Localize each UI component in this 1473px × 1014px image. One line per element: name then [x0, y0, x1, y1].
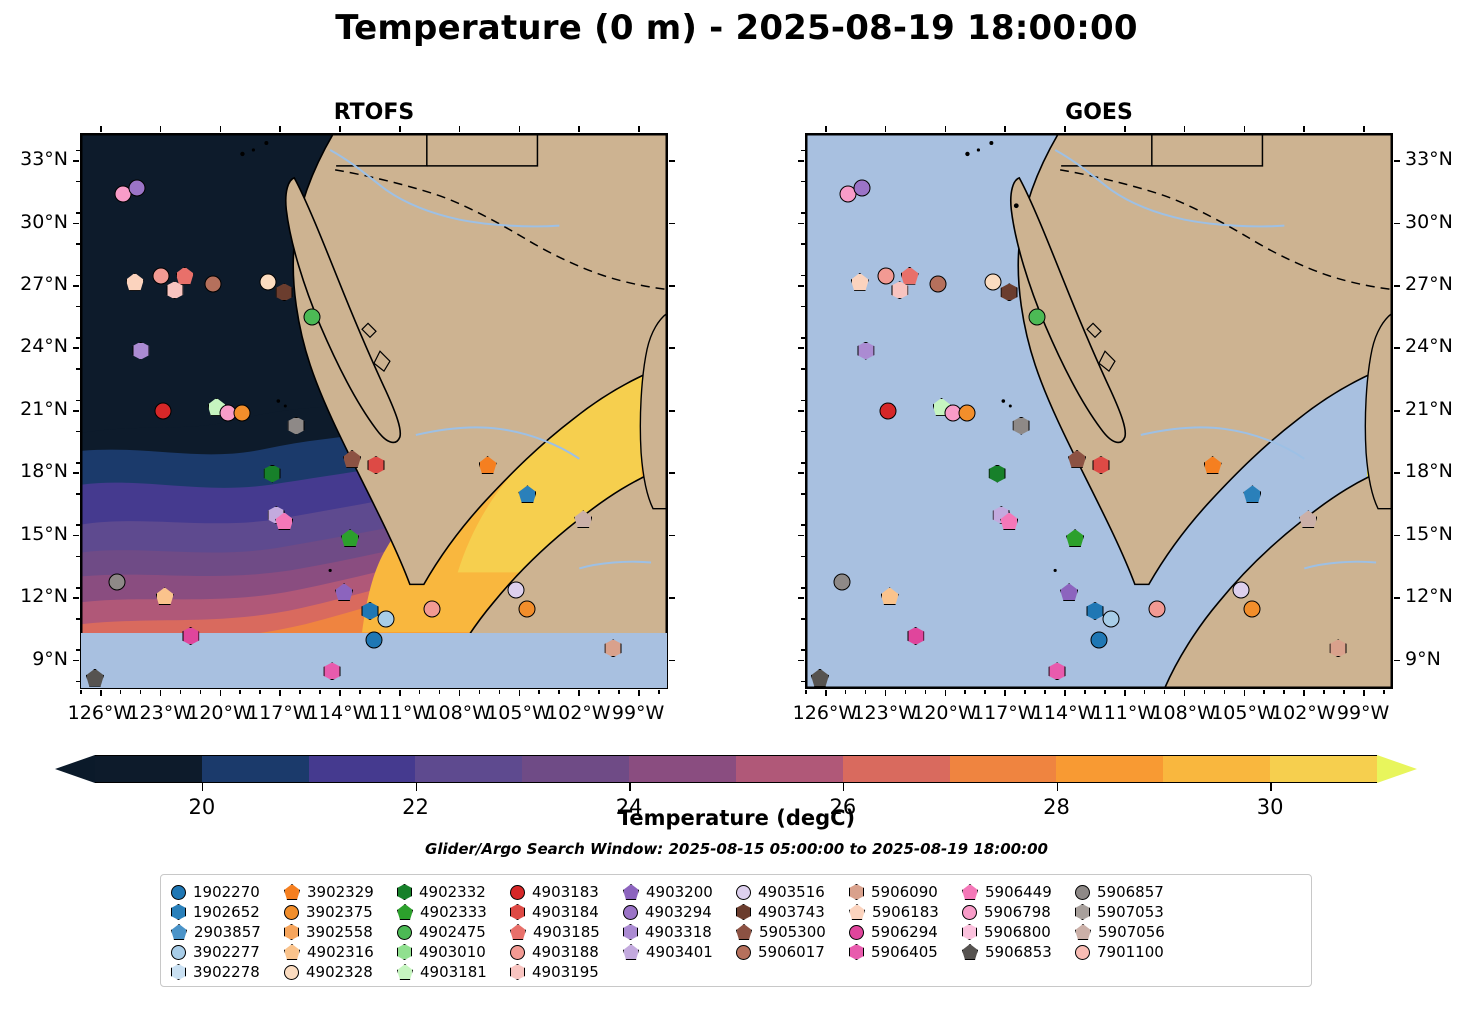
pent-marker-icon [881, 587, 899, 605]
xlabel-rtofs-9: 99°W [596, 702, 680, 724]
ytick-minor [801, 681, 805, 683]
hex-marker-icon [849, 944, 864, 960]
legend-item-5906405[interactable]: 5906405 [849, 942, 962, 962]
float-marker-5906405[interactable] [1049, 662, 1066, 684]
legend-item-4903184[interactable]: 4903184 [510, 902, 623, 922]
ytick-minor [801, 150, 805, 152]
legend-label: 4903743 [758, 903, 825, 921]
colorbar-tick-3 [843, 783, 845, 791]
float-marker-4903200[interactable] [1060, 583, 1078, 605]
map-panel-goes[interactable] [805, 133, 1393, 689]
ytick-minor [76, 618, 80, 620]
legend-grid: 1902270390232949023324903183490320049035… [171, 882, 1301, 982]
legend-item-4903185[interactable]: 4903185 [510, 922, 623, 942]
figure-canvas: Temperature (0 m) - 2025-08-19 18:00:00 … [0, 0, 1473, 1014]
float-marker-4903294[interactable] [853, 180, 870, 201]
legend-label: 5906017 [758, 943, 825, 961]
ytick-minor [801, 368, 805, 370]
pent-marker-icon [849, 904, 865, 920]
legend-item-empty [962, 962, 1075, 982]
legend-label: 5907053 [1097, 903, 1164, 921]
ytick-r-goes-2 [1394, 285, 1400, 287]
map-panel-rtofs[interactable] [80, 133, 668, 689]
legend-item-5906798[interactable]: 5906798 [962, 902, 1075, 922]
float-marker-3902375[interactable] [959, 405, 976, 426]
ylabel-goes-3: 24°N [1405, 335, 1453, 357]
float-marker-1902652[interactable] [518, 485, 536, 507]
float-marker-5906857b[interactable] [833, 573, 850, 594]
xtick-minor [1263, 690, 1265, 694]
float-id-legend[interactable]: 1902270390232949023324903183490320049035… [160, 874, 1312, 987]
legend-label: 4903200 [646, 883, 713, 901]
legend-item-5906449[interactable]: 5906449 [962, 882, 1075, 902]
ytick-r-goes-7 [1394, 597, 1400, 599]
circle-marker-icon [1029, 309, 1046, 326]
xtick-minor [339, 690, 341, 694]
xtick-minor [419, 690, 421, 694]
legend-item-5906017[interactable]: 5906017 [736, 942, 849, 962]
xtick-minor [359, 690, 361, 694]
ylabel-rtofs-7: 12°N [0, 585, 68, 607]
ytick-goes-8 [798, 660, 804, 662]
circle-marker-icon [154, 403, 171, 420]
ytick-minor [76, 556, 80, 558]
xtick-t-goes-4 [1064, 126, 1066, 132]
xtick-minor [459, 690, 461, 694]
float-marker-4903743[interactable] [1001, 283, 1018, 305]
float-marker-5906449[interactable] [275, 512, 293, 534]
float-marker-4903188b[interactable] [423, 600, 440, 621]
ytick-goes-3 [798, 347, 804, 349]
xtick-minor [1224, 690, 1226, 694]
ylabel-goes-5: 18°N [1405, 460, 1453, 482]
ytick-goes-4 [798, 410, 804, 412]
circle-marker-icon [510, 885, 525, 900]
legend-item-5907056[interactable]: 5907056 [1075, 922, 1188, 942]
legend-item-5905300[interactable]: 5905300 [736, 922, 849, 942]
hex-marker-icon [891, 281, 908, 299]
hex-marker-icon [324, 662, 341, 680]
legend-item-7901100[interactable]: 7901100 [1075, 942, 1188, 962]
ytick-minor [801, 337, 805, 339]
ytick-r-goes-1 [1394, 223, 1400, 225]
xtick-minor [1343, 690, 1345, 694]
float-marker-4902328[interactable] [985, 273, 1002, 294]
float-marker-4903200[interactable] [335, 583, 353, 605]
colorbar-segment-8 [950, 756, 1057, 782]
circle-marker-icon [519, 600, 536, 617]
float-marker-4903184[interactable] [367, 456, 384, 478]
float-marker-4902332[interactable] [264, 465, 281, 487]
ytick-rtofs-1 [73, 223, 79, 225]
legend-item-5906090[interactable]: 5906090 [849, 882, 962, 902]
float-marker-5905300[interactable] [343, 450, 361, 472]
hex-marker-icon [1075, 904, 1090, 920]
xtick-minor [964, 690, 966, 694]
float-marker-4902333[interactable] [341, 529, 359, 551]
colorbar-tick-1 [416, 783, 418, 791]
ytick-r-rtofs-0 [669, 160, 675, 162]
legend-item-4903181[interactable]: 4903181 [397, 962, 510, 982]
xtick-minor [1303, 690, 1305, 694]
ytick-minor [76, 400, 80, 402]
ylabel-goes-7: 12°N [1405, 585, 1453, 607]
float-marker-4903743[interactable] [276, 283, 293, 305]
legend-item-4902332[interactable]: 4902332 [397, 882, 510, 902]
ytick-minor [76, 462, 80, 464]
float-marker-5906294[interactable] [182, 627, 199, 649]
legend-label: 3902329 [307, 883, 374, 901]
xtick-minor [658, 690, 660, 694]
float-marker-4903318[interactable] [132, 342, 149, 364]
legend-item-3902375[interactable]: 3902375 [284, 902, 397, 922]
circle-marker-icon [1232, 582, 1249, 599]
circle-marker-icon [849, 925, 864, 940]
circle-marker-icon [284, 965, 299, 980]
legend-item-4902475[interactable]: 4902475 [397, 922, 510, 942]
legend-item-5906857[interactable]: 5906857 [1075, 882, 1188, 902]
legend-item-empty [1075, 962, 1188, 982]
legend-label: 4903010 [419, 943, 486, 961]
colorbar-segment-9 [1056, 756, 1163, 782]
float-marker-4902332[interactable] [989, 465, 1006, 487]
xtick-t-rtofs-5 [399, 126, 401, 132]
xtick-t-rtofs-9 [638, 126, 640, 132]
ylabel-goes-4: 21°N [1405, 398, 1453, 420]
legend-item-4903188[interactable]: 4903188 [510, 942, 623, 962]
float-marker-3902329[interactable] [1204, 456, 1222, 478]
legend-item-5907053[interactable]: 5907053 [1075, 902, 1188, 922]
xtick-minor [805, 690, 807, 694]
hex-marker-icon [510, 904, 525, 920]
legend-item-5906183[interactable]: 5906183 [849, 902, 962, 922]
ytick-r-rtofs-1 [669, 223, 675, 225]
xtick-minor [1004, 690, 1006, 694]
xtick-minor [259, 690, 261, 694]
colorbar[interactable]: 202224262830 [55, 755, 1417, 783]
circle-marker-icon [853, 180, 870, 197]
circle-marker-icon [128, 180, 145, 197]
ytick-goes-5 [798, 472, 804, 474]
float-marker-5906857[interactable] [1013, 417, 1030, 439]
legend-label: 7901100 [1097, 943, 1164, 961]
page-title: Temperature (0 m) - 2025-08-19 18:00:00 [0, 8, 1473, 48]
legend-item-4903195[interactable]: 4903195 [510, 962, 623, 982]
hex-marker-icon [171, 904, 186, 920]
colorbar-tick-0 [202, 783, 204, 791]
float-marker-3902329[interactable] [479, 456, 497, 478]
ylabel-goes-0: 33°N [1405, 148, 1453, 170]
legend-item-4903318[interactable]: 4903318 [623, 922, 736, 942]
float-marker-3902277[interactable] [377, 611, 394, 632]
float-marker-5906090[interactable] [605, 639, 622, 661]
legend-item-1902270[interactable]: 1902270 [171, 882, 284, 902]
float-marker-3902277[interactable] [1102, 611, 1119, 632]
ytick-minor [801, 462, 805, 464]
pent-marker-icon [962, 884, 978, 900]
ytick-rtofs-6 [73, 535, 79, 537]
circle-marker-icon [423, 600, 440, 617]
float-marker-4903318[interactable] [857, 342, 874, 364]
legend-item-4902328[interactable]: 4902328 [284, 962, 397, 982]
xtick-minor [984, 690, 986, 694]
circle-marker-icon [1075, 885, 1090, 900]
ytick-rtofs-2 [73, 285, 79, 287]
hex-marker-icon [171, 964, 186, 980]
pent-marker-icon [736, 924, 752, 940]
xtick-t-goes-6 [1184, 126, 1186, 132]
float-marker-5906017[interactable] [929, 276, 946, 297]
float-marker-5905300[interactable] [1068, 450, 1086, 472]
float-marker-3902375b[interactable] [519, 600, 536, 621]
hex-marker-icon [962, 924, 977, 940]
legend-item-3902277[interactable]: 3902277 [171, 942, 284, 962]
ylabel-rtofs-3: 24°N [0, 335, 68, 357]
ytick-minor [76, 212, 80, 214]
float-marker-5907056[interactable] [574, 510, 592, 532]
circle-marker-icon [929, 276, 946, 293]
legend-label: 4903294 [645, 903, 712, 921]
legend-label: 5906857 [1097, 883, 1164, 901]
legend-item-5906294[interactable]: 5906294 [849, 922, 962, 942]
xtick-minor [1084, 690, 1086, 694]
float-marker-4902316[interactable] [156, 587, 174, 609]
float-marker-4903183[interactable] [879, 403, 896, 424]
float-marker-5906853[interactable] [86, 669, 104, 689]
float-marker-5906017[interactable] [204, 276, 221, 297]
legend-item-4903200[interactable]: 4903200 [623, 882, 736, 902]
pent-marker-icon [1075, 924, 1091, 940]
float-marker-5906857[interactable] [288, 417, 305, 439]
ytick-minor [76, 649, 80, 651]
ytick-goes-7 [798, 597, 804, 599]
colorbar-segment-3 [415, 756, 522, 782]
ylabel-rtofs-6: 15°N [0, 523, 68, 545]
legend-item-4903294[interactable]: 4903294 [623, 902, 736, 922]
legend-item-4903743[interactable]: 4903743 [736, 902, 849, 922]
ylabel-rtofs-0: 33°N [0, 148, 68, 170]
legend-item-empty [1188, 882, 1301, 902]
legend-item-1902652[interactable]: 1902652 [171, 902, 284, 922]
float-marker-1902652[interactable] [1243, 485, 1261, 507]
hex-marker-icon [510, 964, 525, 980]
hex-marker-icon [182, 627, 199, 645]
hex-marker-icon [1001, 283, 1018, 301]
legend-item-5906800[interactable]: 5906800 [962, 922, 1075, 942]
float-marker-5906090[interactable] [1330, 639, 1347, 661]
ytick-minor [76, 681, 80, 683]
pent-marker-icon [275, 512, 293, 530]
ytick-minor [801, 400, 805, 402]
float-marker-1902270b[interactable] [366, 632, 383, 653]
float-marker-5906183[interactable] [851, 273, 869, 295]
ytick-minor [76, 493, 80, 495]
hex-marker-icon [264, 465, 281, 483]
float-marker-5906405[interactable] [324, 662, 341, 684]
float-marker-4903183[interactable] [154, 403, 171, 424]
legend-label: 3902558 [306, 923, 373, 941]
pent-marker-icon [1299, 510, 1317, 528]
ytick-minor [801, 587, 805, 589]
ylabel-rtofs-5: 18°N [0, 460, 68, 482]
legend-item-4903401[interactable]: 4903401 [623, 942, 736, 962]
float-marker-1902270b[interactable] [1091, 632, 1108, 653]
hex-marker-icon [623, 924, 638, 940]
pent-marker-icon [1066, 529, 1084, 547]
circle-marker-icon [284, 905, 299, 920]
ylabel-goes-2: 27°N [1405, 273, 1453, 295]
legend-label: 4902475 [419, 923, 486, 941]
colorbar-gradient [95, 755, 1377, 783]
float-marker-4902333[interactable] [1066, 529, 1084, 551]
ytick-rtofs-7 [73, 597, 79, 599]
ytick-minor [76, 243, 80, 245]
legend-item-4903516[interactable]: 4903516 [736, 882, 849, 902]
legend-item-4902333[interactable]: 4902333 [397, 902, 510, 922]
ytick-minor [801, 275, 805, 277]
xtick-t-goes-8 [1303, 126, 1305, 132]
ytick-rtofs-5 [73, 472, 79, 474]
legend-item-4903183[interactable]: 4903183 [510, 882, 623, 902]
ylabel-rtofs-4: 21°N [0, 398, 68, 420]
xtick-minor [519, 690, 521, 694]
xtick-minor [598, 690, 600, 694]
float-marker-4903184[interactable] [1092, 456, 1109, 478]
xtick-minor [1363, 690, 1365, 694]
legend-item-empty [1188, 942, 1301, 962]
xtick-minor [479, 690, 481, 694]
legend-label: 4902332 [419, 883, 486, 901]
colorbar-extend-high [1377, 755, 1417, 783]
float-marker-5906857b[interactable] [108, 573, 125, 594]
hex-marker-icon [989, 465, 1006, 483]
float-marker-4902316[interactable] [881, 587, 899, 609]
pent-marker-icon [574, 510, 592, 528]
pent-marker-icon [1243, 485, 1261, 503]
ylabel-rtofs-2: 27°N [0, 273, 68, 295]
circle-marker-icon [366, 632, 383, 649]
hex-marker-icon [736, 904, 751, 920]
legend-item-3902278[interactable]: 3902278 [171, 962, 284, 982]
legend-item-empty [736, 962, 849, 982]
float-marker-3902375[interactable] [234, 405, 251, 426]
xtick-t-rtofs-4 [339, 126, 341, 132]
float-marker-4903195[interactable] [891, 281, 908, 303]
colorbar-segment-4 [522, 756, 629, 782]
xtick-t-goes-9 [1363, 126, 1365, 132]
circle-marker-icon [304, 309, 321, 326]
xtick-minor [1144, 690, 1146, 694]
colorbar-tick-2 [629, 783, 631, 791]
xtick-minor [865, 690, 867, 694]
legend-label: 3902278 [193, 963, 260, 981]
ytick-goes-0 [798, 160, 804, 162]
circle-marker-icon [833, 573, 850, 590]
ytick-minor [801, 618, 805, 620]
float-marker-4902328[interactable] [260, 273, 277, 294]
xtick-minor [160, 690, 162, 694]
legend-item-4903010[interactable]: 4903010 [397, 942, 510, 962]
legend-label: 4903181 [420, 963, 487, 981]
hex-marker-icon [132, 342, 149, 360]
legend-item-4902316[interactable]: 4902316 [284, 942, 397, 962]
float-marker-5906449[interactable] [1000, 512, 1018, 534]
float-marker-4902475[interactable] [1029, 309, 1046, 330]
float-marker-3902375b[interactable] [1244, 600, 1261, 621]
colorbar-label: Temperature (degC) [0, 806, 1473, 830]
xtick-minor [925, 690, 927, 694]
float-marker-4902475[interactable] [304, 309, 321, 330]
float-marker-5906294[interactable] [907, 627, 924, 649]
ytick-r-rtofs-5 [669, 472, 675, 474]
legend-label: 4902316 [307, 943, 374, 961]
panel-title-rtofs: RTOFS [80, 100, 668, 125]
float-marker-4903195[interactable] [166, 281, 183, 303]
colorbar-segment-5 [629, 756, 736, 782]
float-marker-1902270[interactable] [362, 602, 379, 624]
pent-marker-icon [397, 904, 413, 920]
hex-marker-icon [362, 602, 379, 620]
xtick-minor [1323, 690, 1325, 694]
legend-label: 3902277 [193, 943, 260, 961]
xtick-minor [1283, 690, 1285, 694]
pent-marker-icon [623, 884, 639, 900]
pent-marker-icon [171, 924, 187, 940]
xtick-minor [845, 690, 847, 694]
legend-item-3902329[interactable]: 3902329 [284, 882, 397, 902]
legend-label: 4903195 [532, 963, 599, 981]
circle-marker-icon [234, 405, 251, 422]
legend-label: 5906294 [871, 923, 938, 941]
xtick-minor [1244, 690, 1246, 694]
pent-marker-icon [86, 669, 104, 687]
float-marker-4903188b[interactable] [1148, 600, 1165, 621]
ytick-r-goes-4 [1394, 410, 1400, 412]
hex-marker-icon [397, 884, 412, 900]
colorbar-segment-2 [309, 756, 416, 782]
xtick-minor [140, 690, 142, 694]
legend-label: 4903188 [532, 943, 599, 961]
xtick-minor [1044, 690, 1046, 694]
xtick-t-rtofs-7 [519, 126, 521, 132]
ytick-minor [801, 306, 805, 308]
ytick-r-goes-3 [1394, 347, 1400, 349]
legend-item-2903857[interactable]: 2903857 [171, 922, 284, 942]
float-marker-5906183[interactable] [126, 273, 144, 295]
legend-item-5906853[interactable]: 5906853 [962, 942, 1075, 962]
legend-item-empty [1188, 902, 1301, 922]
ylabel-rtofs-1: 30°N [0, 211, 68, 233]
hex-marker-icon [907, 627, 924, 645]
pent-marker-icon [811, 669, 829, 687]
legend-label: 5906853 [985, 943, 1052, 961]
legend-label: 4902333 [420, 903, 487, 921]
ytick-minor [76, 181, 80, 183]
ytick-r-rtofs-3 [669, 347, 675, 349]
ytick-r-rtofs-8 [669, 660, 675, 662]
xtick-minor [905, 690, 907, 694]
xtick-minor [100, 690, 102, 694]
colorbar-extend-low [55, 755, 95, 783]
circle-marker-icon [510, 945, 525, 960]
hex-marker-icon [857, 342, 874, 360]
float-marker-5906853[interactable] [811, 669, 829, 689]
float-marker-1902270[interactable] [1087, 602, 1104, 624]
float-marker-5907056[interactable] [1299, 510, 1317, 532]
circle-marker-icon [736, 945, 751, 960]
float-marker-4903294[interactable] [128, 180, 145, 201]
legend-item-3902558[interactable]: 3902558 [284, 922, 397, 942]
